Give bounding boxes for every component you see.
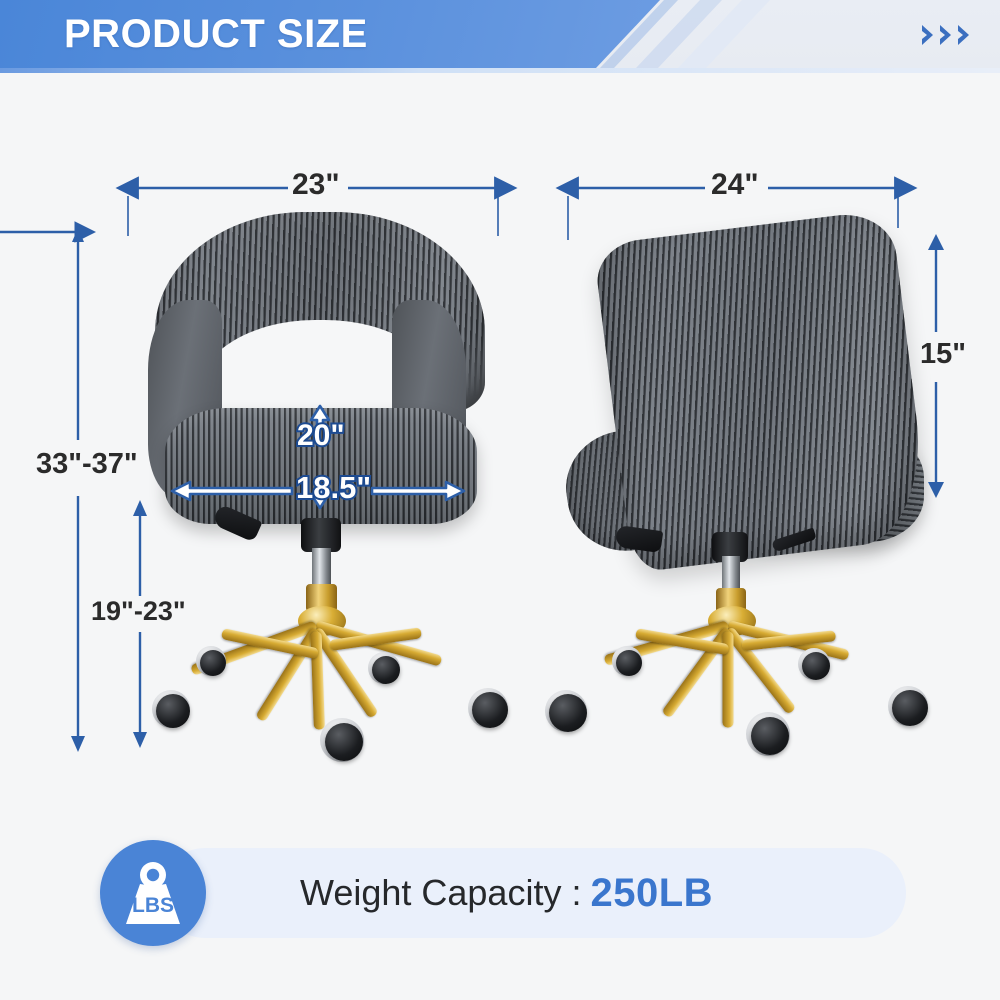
header-underline [0, 68, 1000, 73]
caster-wheel [472, 692, 508, 728]
caster-wheel [156, 694, 190, 728]
caster-wheel [616, 650, 642, 676]
dimension-label-seat-height: 19"-23" [91, 598, 186, 625]
caster-wheel [892, 690, 928, 726]
chevron-group [920, 24, 972, 46]
caster-wheel [802, 652, 830, 680]
product-size-infographic: PRODUCT SIZE [0, 0, 1000, 1000]
caster-wheel [549, 694, 587, 732]
page-title: PRODUCT SIZE [64, 12, 368, 56]
weight-icon-text: LBS [132, 894, 174, 917]
caster-wheel [751, 717, 789, 755]
chevron-right-icon [956, 24, 972, 46]
weight-capacity-value: 250LB [590, 871, 713, 916]
caster-wheel [372, 656, 400, 684]
dimension-label-seat-depth: 20" [297, 421, 345, 451]
caster-wheel [325, 723, 363, 761]
dimension-label-front-width: 23" [292, 170, 340, 200]
dimension-label-side-depth: 24" [711, 170, 759, 200]
dimension-label-backrest-height: 15" [920, 340, 966, 369]
chevron-right-icon [938, 24, 954, 46]
chevron-right-icon [920, 24, 936, 46]
chair-backrest-side [593, 209, 931, 573]
weight-lbs-icon: LBS [100, 840, 206, 946]
weight-capacity-text: Weight Capacity : 250LB [300, 868, 713, 918]
weight-icon-badge: LBS [100, 840, 206, 946]
dimension-label-total-height: 33"-37" [36, 450, 138, 479]
dimension-line-total-height [0, 228, 85, 752]
corduroy-texture [593, 209, 931, 573]
page-header: PRODUCT SIZE [0, 0, 1000, 72]
dimension-label-seat-width: 18.5" [296, 472, 371, 503]
weight-capacity-banner: LBS Weight Capacity : 250LB [100, 840, 906, 946]
caster-wheel [200, 650, 226, 676]
gas-cylinder-housing [301, 518, 341, 552]
weight-capacity-label: Weight Capacity : [300, 872, 581, 914]
